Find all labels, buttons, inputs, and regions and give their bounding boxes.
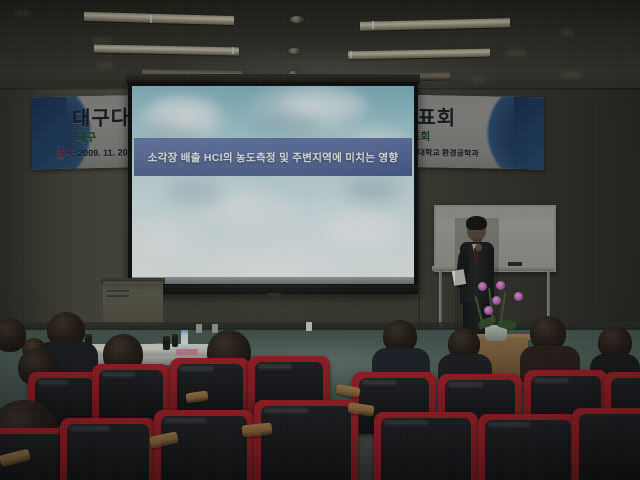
screen-lower-band — [132, 277, 414, 284]
seat-highlight — [164, 418, 206, 423]
seat-highlight — [534, 378, 569, 383]
orchid-flower — [514, 292, 523, 301]
ceiling-mark — [14, 11, 30, 16]
auditorium-seat[interactable] — [254, 400, 358, 480]
seat-cushion — [579, 414, 640, 480]
ceiling-light-fixture — [84, 12, 234, 25]
banner-left-title: 대구다 — [72, 101, 130, 131]
auditorium-seat[interactable] — [60, 418, 156, 480]
seat-highlight — [38, 380, 68, 385]
wall-outlet — [212, 324, 218, 333]
orchid-flower — [466, 308, 475, 317]
ceiling-mark — [560, 72, 582, 78]
whiteboard-marker — [508, 262, 522, 266]
ceiling-light-fixture — [94, 44, 239, 55]
lecture-hall-photo: 대구다 대구 일시: 2009. 11. 20(금) 발표회 발표회 : 대구대… — [0, 0, 640, 480]
auditorium-seat[interactable] — [170, 358, 250, 418]
screen-pull-handle — [267, 293, 281, 297]
ceiling-light-separator — [350, 51, 352, 58]
radiator-unit — [103, 282, 163, 326]
banner-left-subtitle: 대구 — [76, 129, 96, 145]
cloud-wisp — [224, 194, 300, 230]
wall-outlet — [306, 322, 312, 331]
seat-highlight — [70, 426, 110, 431]
ceiling-mark — [96, 63, 114, 68]
projection-screen: 소각장 배출 HCl의 농도측정 및 주변지역에 미치는 영향 — [128, 82, 418, 294]
seat-cushion — [67, 424, 149, 480]
seat-highlight — [180, 366, 214, 371]
cloud-shadow — [252, 112, 322, 136]
dark-bottle — [163, 336, 170, 350]
water-bottle — [181, 330, 188, 348]
seat-highlight — [384, 420, 428, 425]
orchid-flower — [496, 281, 505, 290]
auditorium-seat[interactable] — [572, 408, 640, 480]
ceiling-mark — [470, 78, 486, 82]
table-papers — [140, 343, 162, 350]
seat-cushion — [381, 418, 471, 480]
auditorium-seat[interactable] — [374, 412, 478, 480]
ceiling-mark — [92, 38, 112, 43]
orchid-flower — [484, 306, 493, 315]
banner-date-label: 일시 — [56, 148, 73, 158]
pink-table-item — [176, 349, 198, 355]
seat-cushion — [261, 406, 351, 480]
projection-screen-surface: 소각장 배출 HCl의 농도측정 및 주변지역에 미치는 영향 — [132, 86, 414, 278]
seat-highlight — [102, 372, 135, 377]
slide-title-bar: 소각장 배출 HCl의 농도측정 및 주변지역에 미치는 영향 — [134, 138, 412, 176]
seat-highlight — [362, 380, 397, 385]
radiator-vent — [107, 295, 129, 297]
ceiling-light-separator — [372, 21, 374, 29]
seat-cushion — [99, 370, 163, 422]
radiator-vent — [107, 290, 129, 292]
orchid-flower — [478, 282, 487, 291]
orchid-flower — [492, 296, 501, 305]
orchid-flower — [508, 302, 517, 311]
orchid-flower — [472, 298, 481, 307]
wall-outlet — [196, 324, 202, 333]
slide-title-text: 소각장 배출 HCl의 농도측정 및 주변지역에 미치는 영향 — [148, 150, 399, 165]
seat-highlight — [258, 364, 292, 369]
ceiling-light-fixture — [360, 18, 510, 31]
ceiling-speaker-icon — [288, 48, 301, 54]
seat-cushion — [485, 420, 571, 480]
ceiling-light-separator — [150, 15, 152, 23]
audience-head — [0, 318, 26, 352]
cloud-shadow — [168, 182, 224, 204]
seat-highlight — [448, 382, 483, 387]
seat-highlight — [488, 422, 530, 427]
seat-highlight — [264, 408, 308, 413]
orchid-flower — [468, 288, 477, 297]
ceiling-speaker-icon — [290, 16, 304, 23]
ceiling-mark — [506, 50, 528, 56]
ceiling-light-separator — [232, 47, 234, 54]
seat-cushion — [161, 416, 247, 480]
orchid-flower — [487, 286, 496, 295]
orchid-flower — [505, 287, 514, 296]
dark-bottle — [172, 334, 178, 347]
cloud-shadow — [346, 178, 400, 202]
auditorium-seat[interactable] — [478, 414, 578, 480]
ceiling-mark — [560, 30, 574, 35]
banner-accent-block — [514, 97, 544, 170]
cloud-wisp — [328, 210, 402, 250]
